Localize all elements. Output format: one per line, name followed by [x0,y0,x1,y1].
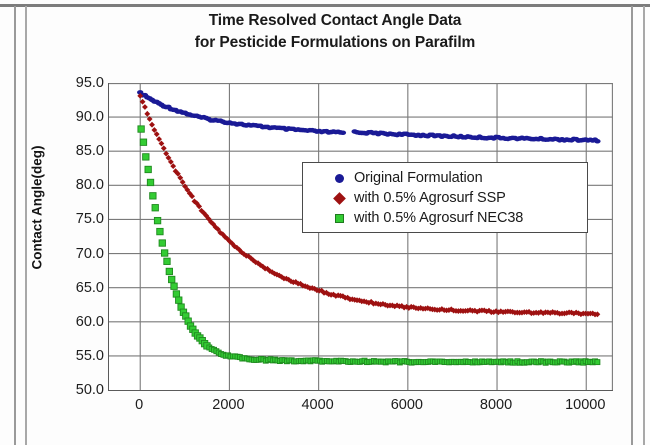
data-point [594,139,600,144]
x-tick-label: 8000 [480,397,512,413]
data-point [149,122,155,128]
data-point [144,111,150,117]
legend-item[interactable]: with 0.5% Agrosurf SSP [331,188,587,208]
legend-marker-shape [333,192,346,205]
axis-ticks [109,83,604,390]
data-point [150,193,156,199]
y-axis-tick-labels: 50.055.060.065.070.075.080.085.090.095.0 [42,83,104,390]
plot-area [108,83,613,391]
chart-figure: Time Resolved Contact Angle Data for Pes… [0,0,650,445]
data-point [145,166,151,172]
data-point [143,154,149,160]
legend-circle-marker-icon [331,170,347,186]
data-point [595,360,600,365]
data-point [147,179,153,185]
chart-legend: Original Formulationwith 0.5% Agrosurf S… [302,162,588,233]
legend-item-label: with 0.5% Agrosurf NEC38 [354,210,523,226]
data-point [140,139,146,145]
data-point [159,240,165,246]
frame-border-right-outer [643,6,645,445]
legend-item[interactable]: with 0.5% Agrosurf NEC38 [331,208,587,228]
chart-title-line-2: for Pesticide Formulations on Parafilm [110,32,560,54]
legend-item-label: Original Formulation [354,170,483,186]
legend-item[interactable]: Original Formulation [331,168,587,188]
y-tick-label: 95.0 [46,75,104,91]
x-tick-label: 2000 [212,397,244,413]
data-point [340,130,346,135]
y-tick-label: 90.0 [46,109,104,125]
legend-marker-shape [335,214,344,223]
y-tick-label: 75.0 [46,211,104,227]
data-point [154,217,160,223]
chart-title: Time Resolved Contact Angle Data for Pes… [110,10,560,54]
x-tick-label: 0 [135,397,143,413]
data-point [173,291,179,297]
y-tick-label: 70.0 [46,246,104,262]
x-axis-tick-labels: 0200040006000800010000 [108,397,612,419]
data-point [161,145,167,151]
data-point [176,297,182,303]
gridlines [109,83,613,390]
legend-item-label: with 0.5% Agrosurf SSP [354,190,506,206]
data-point [142,104,148,110]
plot-canvas [109,83,613,390]
legend-square-marker-icon [331,210,347,226]
y-tick-label: 65.0 [46,280,104,296]
data-point [164,258,170,264]
frame-border-top [0,4,650,7]
x-tick-label: 6000 [391,397,423,413]
data-point [171,283,177,289]
x-tick-label: 10000 [565,397,605,413]
data-point [168,276,174,282]
y-tick-label: 60.0 [46,314,104,330]
frame-border-left-outer [14,6,16,445]
y-tick-label: 55.0 [46,348,104,364]
data-point [152,205,158,211]
y-tick-label: 80.0 [46,177,104,193]
data-point [157,228,163,234]
frame-border-right-inner [631,6,633,445]
frame-border-left-inner [25,6,27,445]
data-point [138,126,144,132]
legend-diamond-marker-icon [331,190,347,206]
x-tick-label: 4000 [301,397,333,413]
chart-title-line-1: Time Resolved Contact Angle Data [209,12,462,29]
y-tick-label: 50.0 [46,382,104,398]
data-point [166,268,172,274]
y-tick-label: 85.0 [46,143,104,159]
legend-marker-shape [335,174,344,183]
data-point [161,250,167,256]
